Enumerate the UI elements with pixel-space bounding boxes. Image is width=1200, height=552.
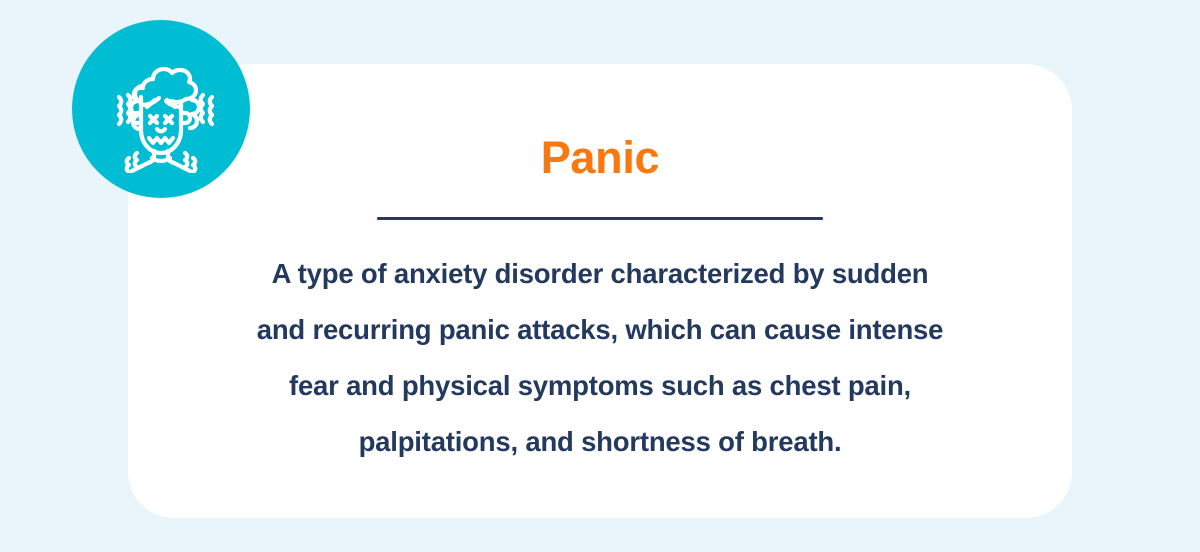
definition-line: and recurring panic attacks, which can c… [180, 302, 1020, 358]
page-root: Panic A type of anxiety disorder charact… [0, 0, 1200, 552]
title-divider [377, 217, 823, 220]
definition-card: Panic A type of anxiety disorder charact… [128, 64, 1072, 518]
page-title: Panic [128, 132, 1072, 184]
panicked-face-icon [97, 45, 225, 173]
definition-line: palpitations, and shortness of breath. [180, 414, 1020, 470]
definition-text: A type of anxiety disorder characterized… [180, 246, 1020, 470]
panic-icon-badge [72, 20, 250, 198]
definition-line: fear and physical symptoms such as chest… [180, 358, 1020, 414]
card-content: Panic A type of anxiety disorder charact… [128, 64, 1072, 518]
definition-line: A type of anxiety disorder characterized… [180, 246, 1020, 302]
